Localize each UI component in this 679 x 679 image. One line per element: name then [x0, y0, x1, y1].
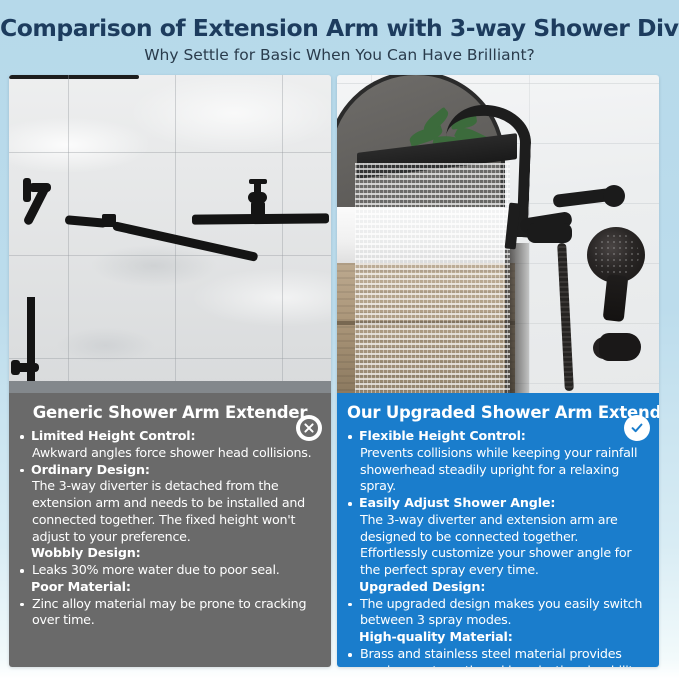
feature-body: Zinc alloy material may be prone to crac… [31, 596, 321, 630]
header: Comparison of Extension Arm with 3-way S… [0, 0, 679, 66]
list-item: Poor Material: Zinc alloy material may b… [19, 579, 321, 629]
bullet-icon [348, 603, 352, 607]
comparison-columns: Generic Shower Arm Extender Limited Heig… [0, 75, 679, 673]
list-item: Upgraded Design: The upgraded design mak… [347, 579, 649, 629]
upgraded-product-column: Our Upgraded Shower Arm Extender Flexibl… [337, 75, 659, 667]
feature-body: Awkward angles force shower head collisi… [31, 445, 321, 462]
diverter-knob [527, 223, 572, 243]
upgraded-panel-title: Our Upgraded Shower Arm Extender [347, 403, 649, 422]
bullet-icon [20, 469, 24, 473]
feature-body: The 3-way diverter is detached from the … [31, 478, 321, 545]
comparison-infographic: Comparison of Extension Arm with 3-way S… [0, 0, 679, 679]
feature-heading: Flexible Height Control: [359, 428, 649, 445]
handheld-holder-bracket [599, 333, 641, 361]
feature-heading: Easily Adjust Shower Angle: [359, 495, 649, 512]
feature-heading: High-quality Material: [359, 629, 649, 646]
feature-heading: Ordinary Design: [31, 462, 321, 479]
upgraded-product-photo [337, 75, 659, 393]
rainfall-showerhead [192, 213, 329, 224]
page-title: Comparison of Extension Arm with 3-way S… [0, 14, 679, 42]
floor-strip [9, 381, 331, 393]
feature-heading: Wobbly Design: [31, 545, 321, 562]
bullet-icon [20, 603, 24, 607]
list-item: High-quality Material: Brass and stainle… [347, 629, 649, 667]
feature-heading: Limited Height Control: [31, 428, 321, 445]
bullet-icon [348, 435, 352, 439]
bullet-icon [20, 569, 24, 573]
feature-body: The upgraded design makes you easily swi… [359, 596, 649, 630]
list-item: Flexible Height Control: Prevents collis… [347, 428, 649, 495]
bullet-icon [20, 435, 24, 439]
feature-body: Leaks 30% more water due to poor seal. [31, 562, 321, 579]
feature-heading: Poor Material: [31, 579, 321, 596]
spray-nozzle-face [593, 233, 639, 277]
handheld-wand [29, 303, 33, 359]
generic-panel-title: Generic Shower Arm Extender [19, 403, 321, 422]
list-item: Wobbly Design: Leaks 30% more water due … [19, 545, 321, 579]
bullet-icon [348, 653, 352, 657]
feature-body: Prevents collisions while keeping your r… [359, 445, 649, 495]
bullet-icon [348, 502, 352, 506]
upgraded-feature-list: Flexible Height Control: Prevents collis… [347, 428, 649, 667]
slide-bar-bracket [11, 360, 20, 375]
page-subtitle: Why Settle for Basic When You Can Have B… [0, 46, 679, 65]
generic-product-column: Generic Shower Arm Extender Limited Heig… [9, 75, 331, 667]
upgraded-product-panel: Our Upgraded Shower Arm Extender Flexibl… [337, 393, 659, 667]
list-item: Easily Adjust Shower Angle: The 3-way di… [347, 495, 649, 579]
generic-product-photo [9, 75, 331, 393]
list-item: Limited Height Control: Awkward angles f… [19, 428, 321, 462]
feature-body: Brass and stainless steel material provi… [359, 646, 649, 667]
wall-ball-joint [603, 185, 625, 207]
generic-feature-list: Limited Height Control: Awkward angles f… [19, 428, 321, 629]
feature-body: The 3-way diverter and extension arm are… [359, 512, 649, 579]
list-item: Ordinary Design: The 3-way diverter is d… [19, 462, 321, 546]
feature-heading: Upgraded Design: [359, 579, 649, 596]
generic-product-panel: Generic Shower Arm Extender Limited Heig… [9, 393, 331, 667]
